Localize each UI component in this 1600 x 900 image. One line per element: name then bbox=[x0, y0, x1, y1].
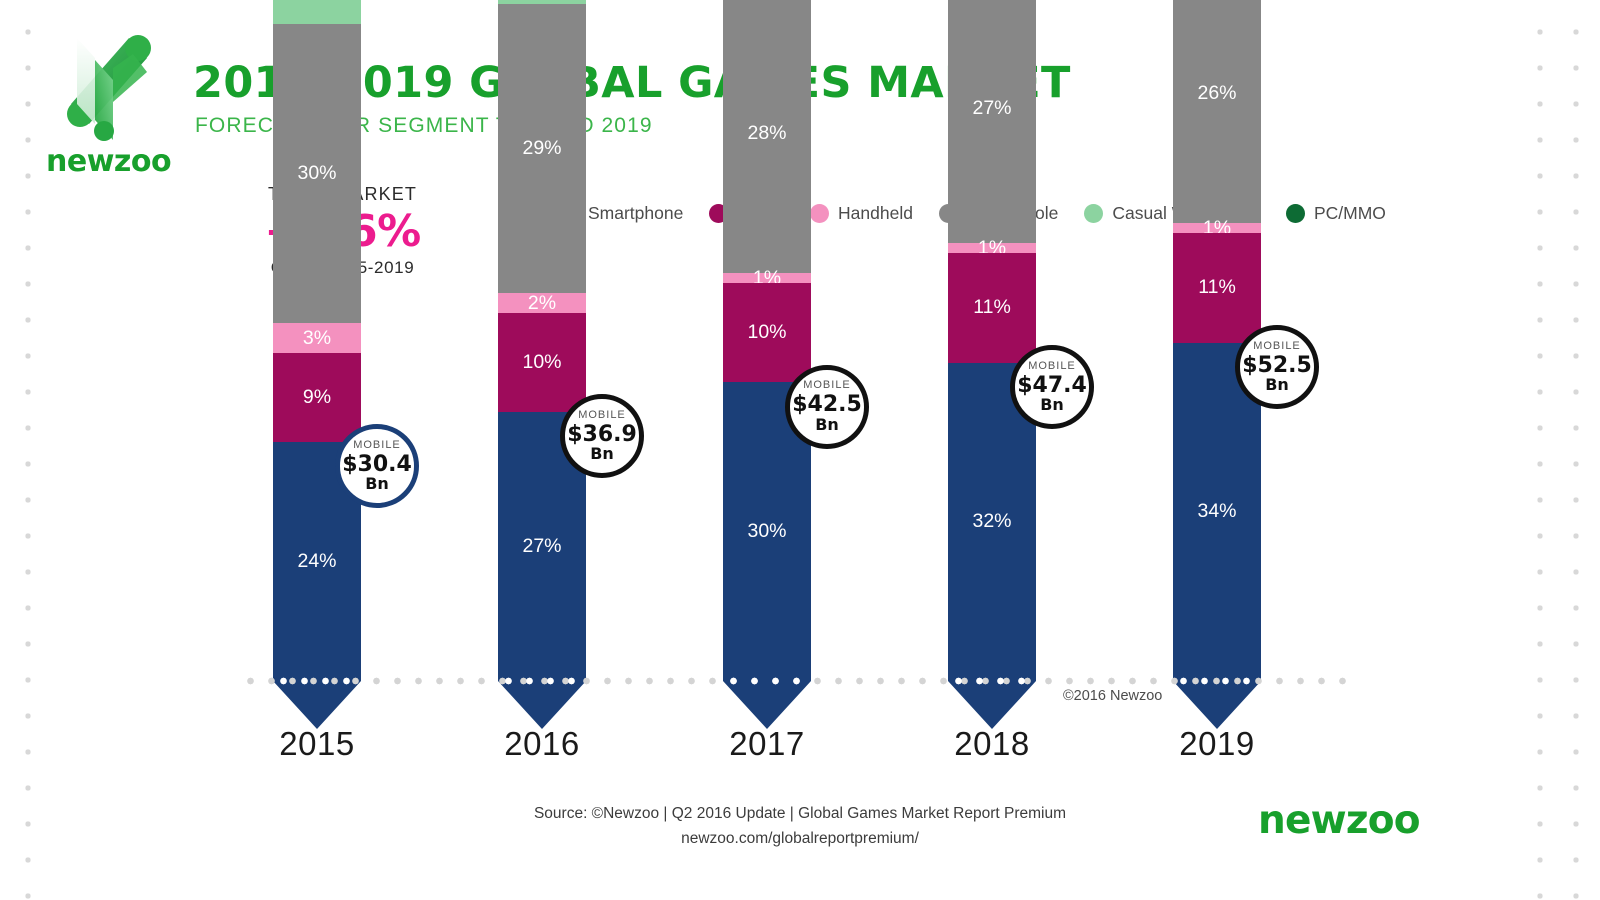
chart-column-2017: $106.5Bn26%5%28%1%10%30%2017 bbox=[655, 0, 879, 900]
baseline-white-dots bbox=[498, 677, 586, 685]
mobile-callout-value: $47.4 bbox=[1017, 374, 1087, 397]
bar-pointer-tip bbox=[723, 681, 811, 729]
mobile-callout-unit: Bn bbox=[815, 417, 839, 433]
baseline-white-dots bbox=[273, 677, 361, 685]
bar-segment-tablet: 10% bbox=[723, 283, 811, 383]
mobile-callout-label: MOBILE bbox=[353, 440, 401, 451]
chart-column-2018: $112.5Bn26%4%27%1%11%32%2018 bbox=[880, 0, 1104, 900]
stacked-bar: 27%5%29%2%10%27% bbox=[498, 0, 586, 729]
x-axis-year-label: 2019 bbox=[1105, 725, 1329, 763]
mobile-callout-unit: Bn bbox=[590, 446, 614, 462]
mobile-revenue-callout: MOBILE$47.4Bn bbox=[1010, 345, 1094, 429]
infographic-canvas: newzoo 2015-2019 GLOBAL GAMES MARKET FOR… bbox=[0, 0, 1600, 900]
baseline-white-dots bbox=[723, 677, 811, 685]
bar-segment-tv-console: 28% bbox=[723, 0, 811, 273]
mobile-callout-value: $30.4 bbox=[342, 453, 412, 476]
x-axis-year-label: 2017 bbox=[655, 725, 879, 763]
mobile-revenue-callout: MOBILE$52.5Bn bbox=[1235, 325, 1319, 409]
stacked-bar: 26%5%28%1%10%30% bbox=[723, 0, 811, 729]
bar-segment-handheld: 1% bbox=[723, 273, 811, 283]
stacked-bar-chart: $91.8Bn28%6%30%3%9%24%2015MOBILE$30.4Bn$… bbox=[0, 0, 1600, 900]
mobile-callout-label: MOBILE bbox=[578, 410, 626, 421]
bar-segment-tablet: 11% bbox=[1173, 233, 1261, 342]
bar-segment-handheld: 1% bbox=[1173, 223, 1261, 233]
mobile-callout-value: $36.9 bbox=[567, 423, 637, 446]
mobile-callout-unit: Bn bbox=[365, 476, 389, 492]
copyright-note: ©2016 Newzoo bbox=[1063, 688, 1162, 704]
bar-segment-tv-console: 30% bbox=[273, 24, 361, 323]
bar-segment-handheld: 3% bbox=[273, 323, 361, 353]
mobile-callout-label: MOBILE bbox=[1028, 361, 1076, 372]
mobile-callout-label: MOBILE bbox=[803, 380, 851, 391]
bar-segment-tv-console: 26% bbox=[1173, 0, 1261, 223]
mobile-callout-unit: Bn bbox=[1265, 377, 1289, 393]
bar-segment-tv-console: 27% bbox=[948, 0, 1036, 243]
baseline-white-dots bbox=[948, 677, 1036, 685]
mobile-revenue-callout: MOBILE$42.5Bn bbox=[785, 365, 869, 449]
mobile-revenue-callout: MOBILE$36.9Bn bbox=[560, 394, 644, 478]
bar-segment-tablet: 9% bbox=[273, 353, 361, 443]
bar-segment-tv-console: 29% bbox=[498, 4, 586, 293]
baseline-white-dots bbox=[1173, 677, 1261, 685]
bar-pointer-tip bbox=[273, 681, 361, 729]
bar-pointer-tip bbox=[948, 681, 1036, 729]
mobile-callout-unit: Bn bbox=[1040, 397, 1064, 413]
bar-segment-handheld: 1% bbox=[948, 243, 1036, 253]
mobile-callout-label: MOBILE bbox=[1253, 341, 1301, 352]
bar-segment-tablet: 10% bbox=[498, 313, 586, 413]
bar-segment-casual-webgames: 6% bbox=[273, 0, 361, 24]
bar-pointer-tip bbox=[498, 681, 586, 729]
footer-newzoo-wordmark: newzoo bbox=[1258, 798, 1420, 843]
stacked-bar: 28%6%30%3%9%24% bbox=[273, 0, 361, 729]
mobile-revenue-callout: MOBILE$30.4Bn bbox=[335, 424, 419, 508]
mobile-callout-value: $42.5 bbox=[792, 393, 862, 416]
bar-segment-tablet: 11% bbox=[948, 253, 1036, 362]
bar-pointer-tip bbox=[1173, 681, 1261, 729]
chart-column-2019: $118.6Bn25%4%26%1%11%34%2019 bbox=[1105, 0, 1329, 900]
x-axis-year-label: 2016 bbox=[430, 725, 654, 763]
mobile-callout-value: $52.5 bbox=[1242, 354, 1312, 377]
x-axis-year-label: 2018 bbox=[880, 725, 1104, 763]
x-axis-year-label: 2015 bbox=[205, 725, 429, 763]
bar-segment-handheld: 2% bbox=[498, 293, 586, 313]
